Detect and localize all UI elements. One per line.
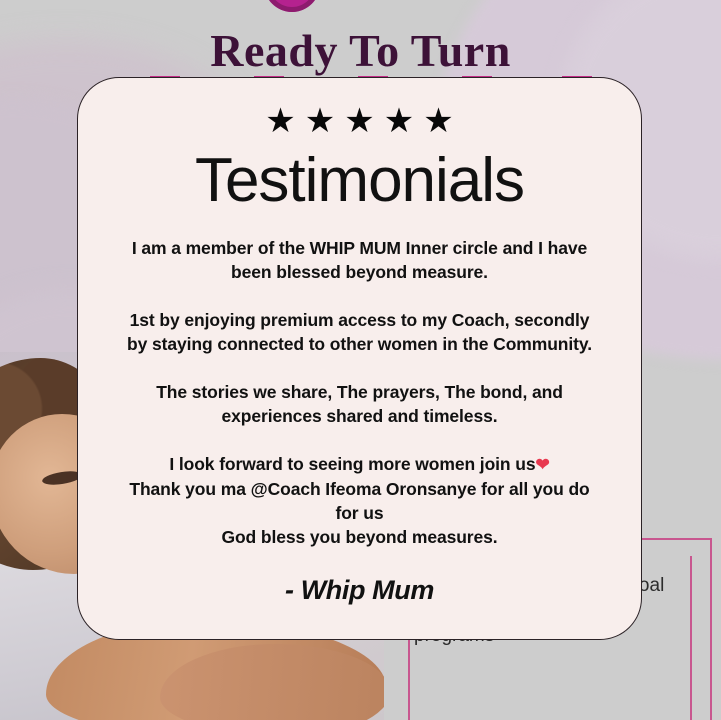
page-title: Testimonials — [78, 148, 641, 214]
closing-line-3: God bless you beyond measures. — [221, 527, 497, 547]
testimonial-paragraph: I am a member of the WHIP MUM Inner circ… — [122, 236, 597, 284]
closing-line-1: I look forward to seeing more women join… — [169, 454, 535, 474]
testimonial-body: I am a member of the WHIP MUM Inner circ… — [78, 236, 641, 549]
testimonial-card: ★★★★★ Testimonials I am a member of the … — [77, 77, 642, 640]
testimonial-graphic: Ready To Turn sessions and expert g — [0, 0, 721, 720]
rating-stars-icon: ★★★★★ — [78, 104, 641, 138]
closing-line-2: Thank you ma @Coach Ifeoma Oronsanye for… — [129, 479, 589, 523]
background-frame-inner-line — [690, 556, 692, 720]
heart-icon: ❤ — [536, 455, 550, 474]
background-heading: Ready To Turn — [0, 24, 721, 77]
testimonial-closing: I look forward to seeing more women join… — [122, 452, 597, 549]
testimonial-signature: - Whip Mum — [78, 575, 641, 606]
testimonial-paragraph: 1st by enjoying premium access to my Coa… — [122, 308, 597, 356]
testimonial-paragraph: The stories we share, The prayers, The b… — [122, 380, 597, 428]
